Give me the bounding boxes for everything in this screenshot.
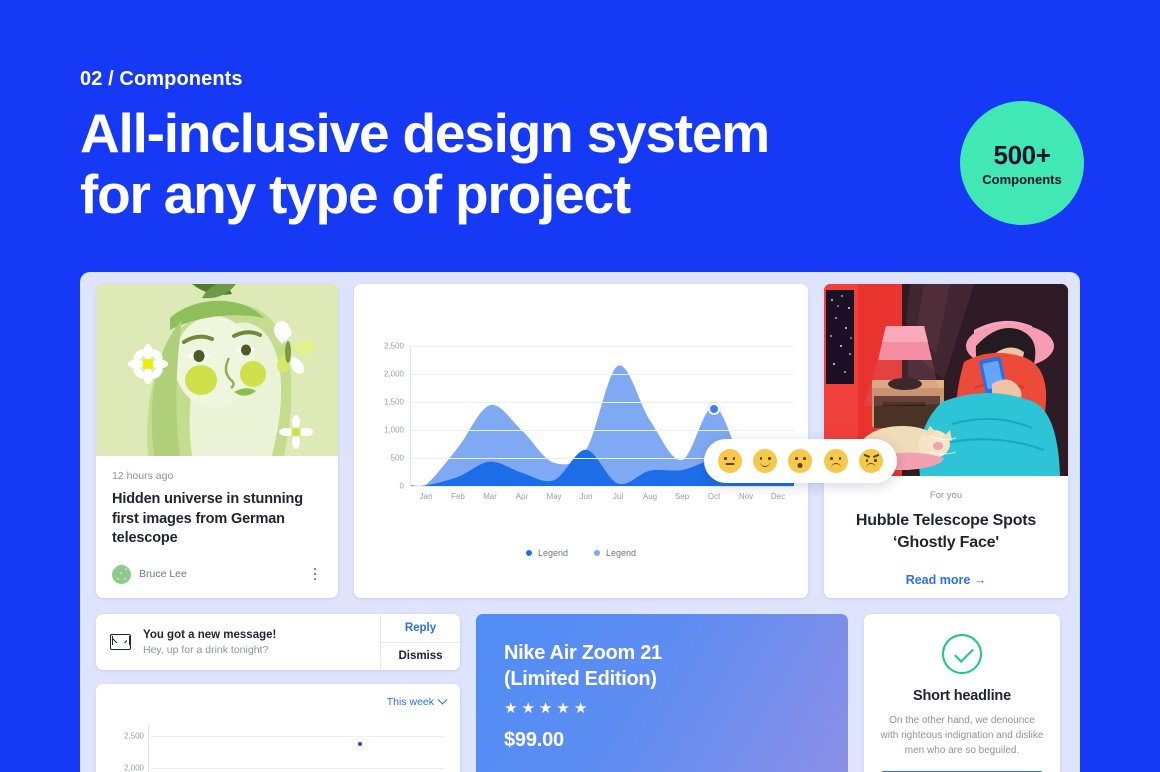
hero-section: 02 / Components All-inclusive design sys… <box>80 68 1080 225</box>
legend-item: Legend <box>526 548 568 558</box>
message-actions: Reply Dismiss <box>380 614 460 670</box>
reply-button[interactable]: Reply <box>381 614 460 643</box>
cards-row-bottom: You got a new message! Hey, up for a dri… <box>96 614 1060 772</box>
chart-x-axis: Jan Feb Mar Apr May Jun Jul Aug Sep Oct … <box>410 492 794 501</box>
scatter-chart-card: This week 2,500 2,000 <box>96 684 460 772</box>
product-title-line-2: (Limited Edition) <box>504 666 820 692</box>
legend-color-dot <box>526 550 532 556</box>
smiling-face-icon[interactable] <box>753 449 777 473</box>
success-body-text: On the other hand, we denounce with righ… <box>880 713 1044 758</box>
timerange-value: This week <box>387 696 434 708</box>
article-image <box>96 284 338 456</box>
for-you-eyebrow: For you <box>838 490 1054 501</box>
star-icon: ★ <box>556 701 569 716</box>
chart-axis-line <box>410 346 411 486</box>
chart-legend: Legend Legend <box>354 548 808 558</box>
area-chart-card: 2,500 2,000 1,500 1,000 500 0 <box>354 284 808 598</box>
legend-label: Legend <box>538 548 568 558</box>
x-tick-label: Dec <box>762 492 794 501</box>
success-card: Short headline On the other hand, we den… <box>864 614 1060 772</box>
star-icon: ★ <box>539 701 552 716</box>
page-title: All-inclusive design system for any type… <box>80 103 1080 225</box>
y-tick-label: 1,000 <box>384 426 404 435</box>
message-content: You got a new message! Hey, up for a dri… <box>96 614 380 670</box>
legend-item: Legend <box>594 548 636 558</box>
x-tick-label: Jun <box>570 492 602 501</box>
y-tick-label: 2,000 <box>384 370 404 379</box>
article-timestamp: 12 hours ago <box>112 470 322 482</box>
scatter-points <box>148 724 446 772</box>
x-tick-label: Sep <box>666 492 698 501</box>
scatter-plot-area <box>148 724 446 772</box>
x-tick-label: Mar <box>474 492 506 501</box>
legend-label: Legend <box>606 548 636 558</box>
scatter-point <box>358 742 362 746</box>
y-tick-label: 2,500 <box>384 342 404 351</box>
section-eyebrow: 02 / Components <box>80 68 1080 91</box>
star-icon: ★ <box>504 701 517 716</box>
emoji-reaction-bar[interactable] <box>704 439 897 483</box>
page-root: 02 / Components All-inclusive design sys… <box>0 0 1160 772</box>
x-tick-label: Jul <box>602 492 634 501</box>
article-author: Bruce Lee <box>112 565 187 584</box>
badge-label: Components <box>982 172 1061 187</box>
headline-line-2: for any type of project <box>80 164 1080 225</box>
chart-gridline <box>410 430 794 431</box>
angry-face-icon[interactable] <box>859 449 883 473</box>
components-panel: 12 hours ago Hidden universe in stunning… <box>80 272 1080 772</box>
author-name: Bruce Lee <box>139 568 187 580</box>
product-title-line-1: Nike Air Zoom 21 <box>504 640 820 666</box>
headline-line-1: All-inclusive design system <box>80 103 1080 164</box>
message-title: You got a new message! <box>143 629 276 641</box>
x-tick-label: Jan <box>410 492 442 501</box>
x-tick-label: Nov <box>730 492 762 501</box>
neutral-face-icon[interactable] <box>718 449 742 473</box>
surprised-face-icon[interactable] <box>788 449 812 473</box>
sad-face-icon[interactable] <box>824 449 848 473</box>
article-headline: Hidden universe in stunning first images… <box>112 490 322 549</box>
chart-gridline <box>410 346 794 347</box>
chart-y-axis: 2,500 2,000 1,500 1,000 500 0 <box>370 346 404 486</box>
product-price: $99.00 <box>504 729 820 752</box>
article-body: 12 hours ago Hidden universe in stunning… <box>96 456 338 554</box>
chart-gridline <box>410 402 794 403</box>
article-card[interactable]: 12 hours ago Hidden universe in stunning… <box>96 284 338 598</box>
article-footer: Bruce Lee <box>96 554 338 598</box>
chevron-down-icon <box>438 694 448 704</box>
illustration-woman-with-flowers <box>96 284 338 456</box>
x-tick-label: Feb <box>442 492 474 501</box>
y-tick-label: 2,500 <box>124 732 144 741</box>
badge-number: 500+ <box>994 140 1051 171</box>
chart-gridline <box>410 374 794 375</box>
y-tick-label: 1,500 <box>384 398 404 407</box>
x-tick-label: Oct <box>698 492 730 501</box>
star-icon: ★ <box>521 701 534 716</box>
y-tick-label: 2,000 <box>124 764 144 772</box>
product-title: Nike Air Zoom 21 (Limited Edition) <box>504 640 820 692</box>
dismiss-button[interactable]: Dismiss <box>381 643 460 671</box>
components-count-badge: 500+ Components <box>960 101 1084 225</box>
avatar <box>112 565 131 584</box>
for-you-headline: Hubble Telescope Spots ‘Ghostly Face' <box>838 510 1054 554</box>
read-more-link[interactable]: Read more → <box>824 573 1068 587</box>
y-tick-label: 500 <box>391 454 404 463</box>
kebab-menu-icon[interactable] <box>308 566 322 582</box>
legend-color-dot <box>594 550 600 556</box>
x-tick-label: May <box>538 492 570 501</box>
success-headline: Short headline <box>880 688 1044 704</box>
x-tick-label: Apr <box>506 492 538 501</box>
timerange-dropdown[interactable]: This week <box>387 696 446 708</box>
chart-gridline <box>410 486 794 487</box>
message-notification-card: You got a new message! Hey, up for a dri… <box>96 614 460 670</box>
check-circle-icon <box>942 634 982 674</box>
x-tick-label: Aug <box>634 492 666 501</box>
for-you-body: For you Hubble Telescope Spots ‘Ghostly … <box>824 476 1068 554</box>
envelope-icon <box>110 634 131 650</box>
y-tick-label: 0 <box>400 482 404 491</box>
cards-row-top: 12 hours ago Hidden universe in stunning… <box>96 284 1068 598</box>
star-icon: ★ <box>574 701 587 716</box>
message-preview: Hey, up for a drink tonight? <box>143 644 276 656</box>
product-card[interactable]: Nike Air Zoom 21 (Limited Edition) ★★★★★… <box>476 614 848 772</box>
rating-stars: ★★★★★ <box>504 701 820 716</box>
